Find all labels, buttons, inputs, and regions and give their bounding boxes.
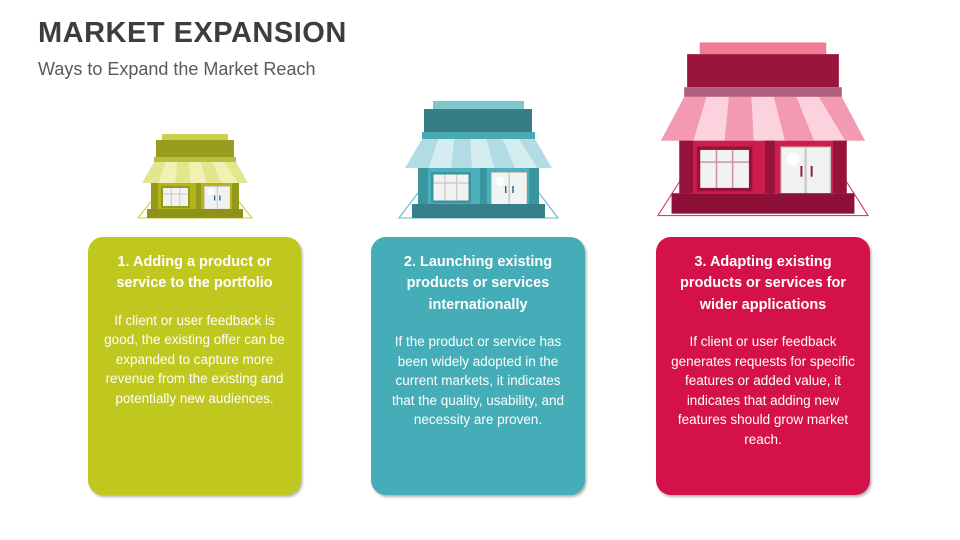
card-1[interactable]: 1. Adding a product or service to the po… [88,237,301,495]
slide-header: MARKET EXPANSION Ways to Expand the Mark… [38,18,347,80]
card-2-title: 2. Launching existing products or servic… [384,252,572,316]
page-title: MARKET EXPANSION [38,18,347,50]
storefront-icon [397,101,560,220]
card-3-body: If client or user feedback generates req… [669,332,857,449]
storefront-icon-1 [88,134,301,220]
storefront-icon [136,134,254,220]
card-3[interactable]: 3. Adapting existing products or service… [656,237,870,495]
storefront-icon [656,40,870,220]
storefront-icon-2 [371,101,585,220]
card-1-title: 1. Adding a product or service to the po… [101,252,288,295]
slide-canvas: MARKET EXPANSION Ways to Expand the Mark… [0,0,960,540]
page-subtitle: Ways to Expand the Market Reach [38,60,347,80]
storefront-icon-3 [656,40,870,220]
card-1-body: If client or user feedback is good, the … [101,311,288,409]
card-2[interactable]: 2. Launching existing products or servic… [371,237,585,495]
card-2-body: If the product or service has been widel… [384,332,572,430]
card-3-title: 3. Adapting existing products or service… [669,252,857,316]
